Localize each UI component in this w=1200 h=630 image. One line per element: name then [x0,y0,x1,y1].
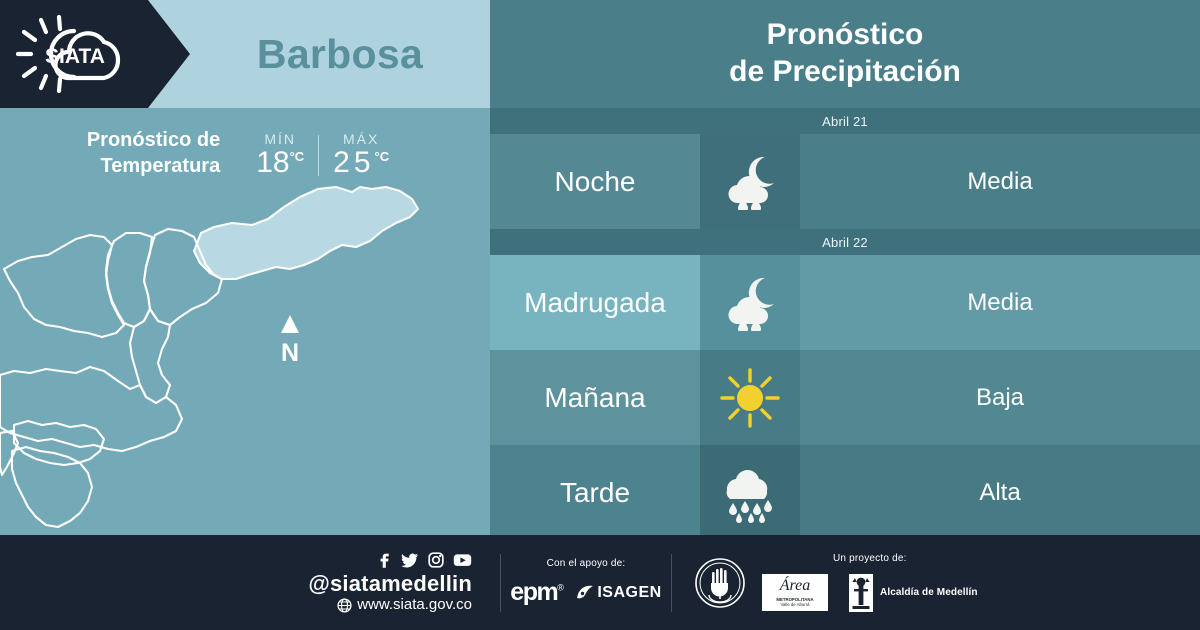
forecast-probability: Baja [800,350,1200,445]
temperature-min-label: MÍN [256,131,304,147]
temperature-title-line2: Temperatura [87,154,220,180]
map-region-caldas [12,447,92,527]
project-block: Un proyecto de: Área METROPOLITANA Valle… [672,553,978,613]
map-region-medellin [0,367,182,451]
forecast-period: Mañana [490,350,700,445]
temperature-max-value: 25 [333,146,374,179]
forecast-period: Noche [490,134,700,229]
project-logos: Un proyecto de: Área METROPOLITANA Valle… [762,553,978,613]
precipitation-panel: Pronóstico de Precipitación Abril 21 Noc… [490,0,1200,535]
website-row[interactable]: www.siata.gov.co [0,596,472,614]
support-logos: epm® ISAGEN [510,578,661,607]
map-region-bello [4,235,124,337]
compass-label: N [281,339,299,367]
forecast-period: Madrugada [490,255,700,350]
isagen-mark-icon [576,585,594,601]
forecast-title-line2: de Precipitación [729,54,961,91]
website-url: www.siata.gov.co [357,596,472,614]
social-icons [0,551,472,568]
project-caption: Un proyecto de: [833,553,907,564]
temperature-values: MÍN 18°C MÁX 25°C [242,131,403,178]
twitter-icon[interactable] [401,551,419,568]
temperature-min-value-group: 18°C [256,148,304,178]
support-block: Con el apoyo de: epm® ISAGEN [501,558,671,607]
siata-logo-text: SIATA [45,45,105,68]
map-region-la-estrella [0,431,18,475]
temperature-min-unit: °C [290,149,305,164]
date-band-2: Abril 22 [490,229,1200,255]
instagram-icon[interactable] [428,551,444,568]
map-region-barbosa [194,187,418,279]
forecast-row[interactable]: Mañana Baja [490,350,1200,445]
page-title: Barbosa [190,0,490,108]
social-handle[interactable]: @siatamedellin [0,571,472,596]
temperature-max-label: MÁX [333,131,389,147]
cloud-heavy-rain-icon [700,445,800,540]
date-band-1: Abril 21 [490,108,1200,134]
forecast-row[interactable]: Noche Media [490,134,1200,229]
alcaldia-medellin-logo: Alcaldía de Medellín [848,573,978,613]
isagen-logo: ISAGEN [576,584,661,602]
support-caption: Con el apoyo de: [547,558,626,569]
forecast-title-line1: Pronóstico [767,17,924,54]
footer: @siatamedellin www.siata.gov.co Con el a… [0,535,1200,630]
sun-icon [700,350,800,445]
left-panel: Barbosa SIATA Pronóstico de [0,0,490,535]
moon-cloud-rain-icon [700,134,800,229]
alcaldia-crest-icon [848,573,874,613]
forecast-probability: Alta [800,445,1200,540]
temperature-summary: Pronóstico de Temperatura MÍN 18°C MÁX 2… [0,108,490,200]
social-block: @siatamedellin www.siata.gov.co [0,551,500,614]
compass-rose: N [281,315,299,367]
globe-icon [337,598,352,613]
weather-forecast-poster: Barbosa SIATA Pronóstico de [0,0,1200,630]
forecast-row[interactable]: Tarde Alta [490,445,1200,540]
map-region-copacabana [106,233,152,327]
forecast-probability: Media [800,134,1200,229]
facebook-icon[interactable] [376,551,392,568]
forecast-title: Pronóstico de Precipitación [490,0,1200,108]
valle-de-aburra-map: N [0,175,490,535]
temperature-max: MÁX 25°C [319,131,403,178]
forecast-row[interactable]: Madrugada Media [490,255,1200,350]
sun-cloud-icon: SIATA [14,14,138,94]
temperature-max-value-group: 25°C [333,148,389,178]
udea-seal-icon [694,557,746,609]
temperature-title-line1: Pronóstico de [87,128,220,154]
temperature-min-value: 18 [256,146,289,179]
map-region-itagui [14,421,104,465]
area-metropolitana-logo: Área METROPOLITANA Valle de Aburrá [762,574,828,611]
youtube-icon[interactable] [453,551,472,568]
temperature-title: Pronóstico de Temperatura [87,128,220,179]
map-svg: N [0,175,490,535]
temperature-min: MÍN 18°C [242,131,318,178]
map-region-medellin-north [130,309,170,403]
moon-cloud-rain-icon [700,255,800,350]
forecast-period: Tarde [490,445,700,540]
forecast-probability: Media [800,255,1200,350]
temperature-max-unit: °C [375,149,390,164]
epm-logo: epm® [510,578,562,607]
